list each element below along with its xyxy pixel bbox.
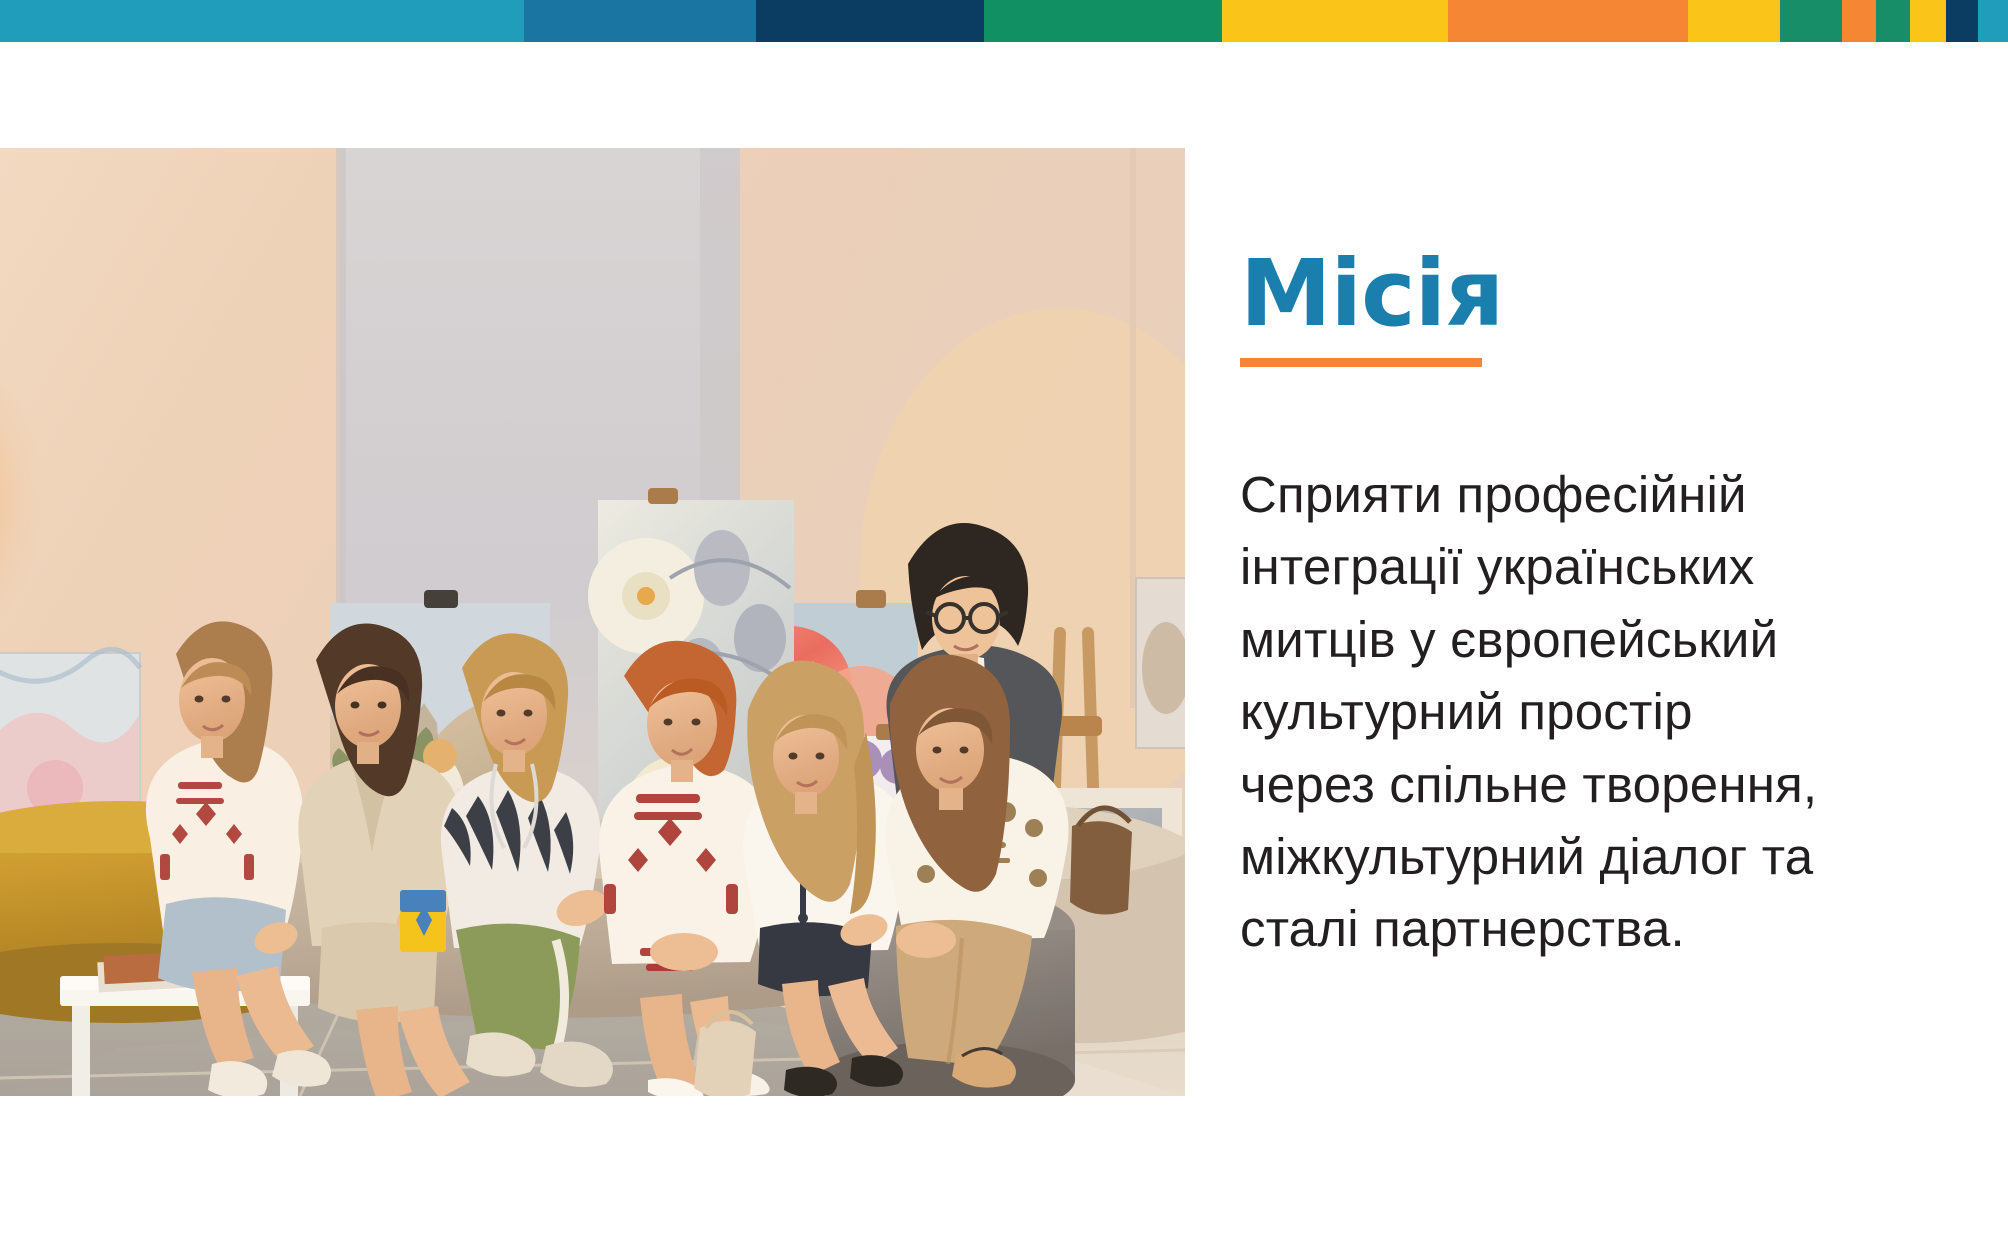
mission-text-column: Місія Сприяти професійній інтеграції укр… bbox=[1240, 148, 1940, 1017]
color-bar-segment-12 bbox=[1946, 0, 1978, 42]
color-bar-segment-7 bbox=[1688, 0, 1780, 42]
color-bar-segment-1 bbox=[0, 0, 524, 42]
color-bar-segment-2 bbox=[524, 0, 756, 42]
color-bar-segment-4 bbox=[984, 0, 1222, 42]
page-title: Місія bbox=[1240, 148, 1940, 340]
color-bar-segment-5 bbox=[1222, 0, 1448, 42]
title-underline-accent bbox=[1240, 358, 1482, 367]
color-bar-segment-6 bbox=[1448, 0, 1688, 42]
color-bar-segment-13 bbox=[1978, 0, 2008, 42]
group-photo bbox=[0, 148, 1185, 1096]
group-photo-illustration bbox=[0, 148, 1185, 1096]
color-bar-segment-3 bbox=[756, 0, 984, 42]
color-bar-segment-8 bbox=[1780, 0, 1842, 42]
color-bar-segment-11 bbox=[1910, 0, 1946, 42]
decorative-color-bar bbox=[0, 0, 2008, 42]
color-bar-segment-10 bbox=[1876, 0, 1910, 42]
mission-statement-text: Сприяти професійній інтеграції українськ… bbox=[1240, 459, 1940, 966]
color-bar-segment-9 bbox=[1842, 0, 1876, 42]
